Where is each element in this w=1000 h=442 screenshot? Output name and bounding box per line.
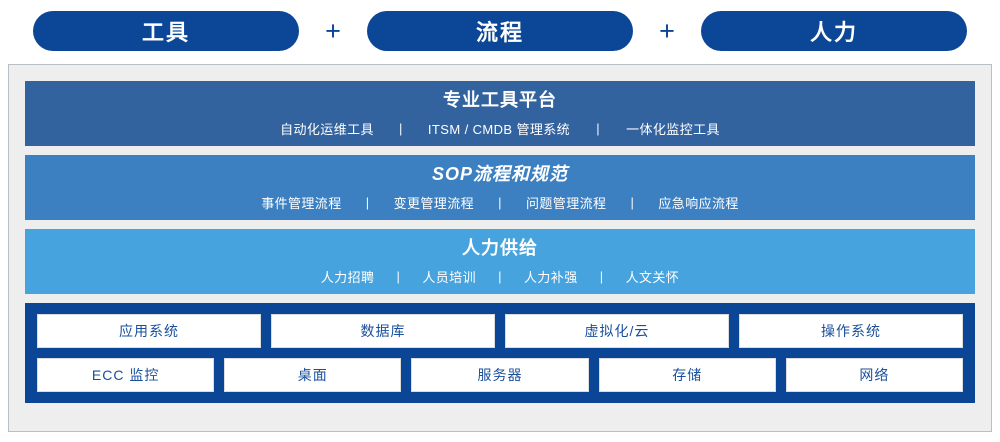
plus-sign-2: + bbox=[633, 18, 701, 45]
separator: | bbox=[570, 121, 626, 136]
pill-process[interactable]: 流程 bbox=[367, 11, 633, 51]
separator: | bbox=[374, 121, 428, 136]
layer-stack: 专业工具平台 自动化运维工具 | ITSM / CMDB 管理系统 | 一体化监… bbox=[25, 81, 975, 403]
layer-sop-items: 事件管理流程 | 变更管理流程 | 问题管理流程 | 应急响应流程 bbox=[261, 193, 739, 212]
layer-manpower-item-1[interactable]: 人力招聘 bbox=[321, 267, 375, 286]
layer-tools-item-1[interactable]: 自动化运维工具 bbox=[280, 119, 374, 138]
chip-application-system[interactable]: 应用系统 bbox=[37, 314, 261, 348]
layer-sop-item-3[interactable]: 问题管理流程 bbox=[526, 193, 606, 212]
chip-network[interactable]: 网络 bbox=[786, 358, 963, 392]
layer-manpower-supply[interactable]: 人力供给 人力招聘 | 人员培训 | 人力补强 | 人文关怀 bbox=[25, 229, 975, 294]
separator: | bbox=[342, 195, 394, 210]
chip-virtualization-cloud[interactable]: 虚拟化/云 bbox=[505, 314, 729, 348]
layer-sop-item-1[interactable]: 事件管理流程 bbox=[261, 193, 341, 212]
infrastructure-base: 应用系统 数据库 虚拟化/云 操作系统 ECC 监控 桌面 服务器 存储 网络 bbox=[25, 303, 975, 403]
infrastructure-row-2: ECC 监控 桌面 服务器 存储 网络 bbox=[37, 358, 963, 392]
layer-sop-item-4[interactable]: 应急响应流程 bbox=[658, 193, 738, 212]
pill-tools[interactable]: 工具 bbox=[33, 11, 299, 51]
layer-tools-title: 专业工具平台 bbox=[443, 89, 557, 112]
pill-process-label: 流程 bbox=[476, 15, 524, 47]
pill-tools-label: 工具 bbox=[142, 15, 190, 47]
layer-tools-item-2[interactable]: ITSM / CMDB 管理系统 bbox=[428, 119, 570, 138]
layer-tools-items: 自动化运维工具 | ITSM / CMDB 管理系统 | 一体化监控工具 bbox=[280, 119, 720, 138]
pill-people[interactable]: 人力 bbox=[701, 11, 967, 51]
layer-tools-platform[interactable]: 专业工具平台 自动化运维工具 | ITSM / CMDB 管理系统 | 一体化监… bbox=[25, 81, 975, 146]
separator: | bbox=[474, 195, 526, 210]
layer-manpower-items: 人力招聘 | 人员培训 | 人力补强 | 人文关怀 bbox=[321, 267, 679, 286]
layer-sop-title: SOP流程和规范 bbox=[432, 163, 568, 186]
layer-tools-item-3[interactable]: 一体化监控工具 bbox=[626, 119, 720, 138]
layer-manpower-item-2[interactable]: 人员培训 bbox=[422, 267, 476, 286]
layer-sop-item-2[interactable]: 变更管理流程 bbox=[394, 193, 474, 212]
separator: | bbox=[476, 269, 524, 284]
chip-desktop[interactable]: 桌面 bbox=[224, 358, 401, 392]
architecture-frame: 专业工具平台 自动化运维工具 | ITSM / CMDB 管理系统 | 一体化监… bbox=[8, 64, 992, 432]
capability-formula-row: 工具 + 流程 + 人力 bbox=[0, 0, 1000, 62]
chip-storage[interactable]: 存储 bbox=[599, 358, 776, 392]
separator: | bbox=[578, 269, 626, 284]
chip-ecc-monitoring[interactable]: ECC 监控 bbox=[37, 358, 214, 392]
chip-database[interactable]: 数据库 bbox=[271, 314, 495, 348]
layer-manpower-title: 人力供给 bbox=[462, 237, 538, 260]
plus-sign-1: + bbox=[299, 18, 367, 45]
chip-operating-system[interactable]: 操作系统 bbox=[739, 314, 963, 348]
separator: | bbox=[606, 195, 658, 210]
layer-sop-process[interactable]: SOP流程和规范 事件管理流程 | 变更管理流程 | 问题管理流程 | 应急响应… bbox=[25, 155, 975, 220]
infrastructure-row-1: 应用系统 数据库 虚拟化/云 操作系统 bbox=[37, 314, 963, 348]
chip-server[interactable]: 服务器 bbox=[411, 358, 588, 392]
pill-people-label: 人力 bbox=[810, 15, 858, 47]
layer-manpower-item-3[interactable]: 人力补强 bbox=[524, 267, 578, 286]
layer-manpower-item-4[interactable]: 人文关怀 bbox=[626, 267, 680, 286]
separator: | bbox=[374, 269, 422, 284]
